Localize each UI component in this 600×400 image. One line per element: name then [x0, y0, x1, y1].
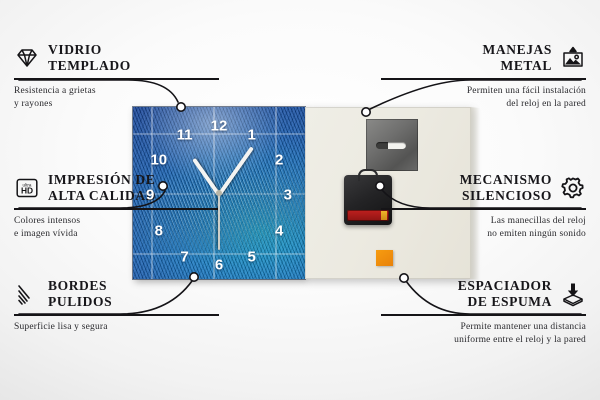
feature-title-line1: IMPRESIÓN DE	[48, 172, 155, 187]
feature-rule	[381, 208, 586, 210]
clock-numeral-2: 2	[275, 153, 283, 168]
feature-mecanismo-silencioso: MECANISMO SILENCIOSO Las manecillas del …	[381, 172, 586, 240]
feature-title-line2: METAL	[500, 58, 552, 73]
clock-numeral-3: 3	[284, 187, 292, 202]
feature-rule	[381, 314, 586, 316]
feature-title-line2: DE ESPUMA	[467, 294, 552, 309]
feature-title-line2: PULIDOS	[48, 294, 112, 309]
feature-rule	[14, 78, 219, 80]
feature-bordes-pulidos: BORDES PULIDOS Superficie lisa y segura	[14, 278, 219, 334]
feature-title-line1: VIDRIO	[48, 42, 102, 57]
ultra-hd-icon: ultra HD	[14, 175, 40, 201]
clock-center-hub	[216, 190, 222, 196]
infographic-canvas: 12 1 2 3 4 5 6 7 8 9 10 11	[0, 0, 600, 400]
foam-spacer	[376, 250, 393, 266]
feature-desc-line2: e imagen vívida	[14, 229, 78, 239]
clock-numeral-11: 11	[177, 127, 193, 142]
feature-title-line1: MECANISMO	[460, 172, 552, 187]
feature-rule	[14, 208, 219, 210]
movement-hook	[358, 169, 378, 181]
clock-numeral-9: 9	[146, 187, 154, 202]
feature-desc-line1: Superficie lisa y segura	[14, 322, 108, 332]
hanger-slot	[376, 142, 406, 149]
clock-numeral-7: 7	[180, 249, 188, 264]
feature-desc-line2: del reloj en la pared	[506, 99, 586, 109]
feature-desc-line2: uniforme entre el reloj y la pared	[454, 335, 586, 345]
feature-title-line2: TEMPLADO	[48, 58, 131, 73]
diamond-icon	[14, 45, 40, 71]
feature-title-line2: SILENCIOSO	[462, 188, 552, 203]
feature-title-line1: MANEJAS	[483, 42, 552, 57]
clock-minute-hand	[217, 146, 254, 196]
picture-frame-hanging-icon	[560, 45, 586, 71]
gear-icon	[560, 175, 586, 201]
feature-desc-line2: no emiten ningún sonido	[487, 229, 586, 239]
clock-numeral-8: 8	[155, 223, 163, 238]
feature-rule	[14, 314, 219, 316]
arrow-down-pad-icon	[560, 281, 586, 307]
feature-vidrio-templado: VIDRIO TEMPLADO Resistencia a grietas y …	[14, 42, 219, 110]
clock-numeral-5: 5	[248, 249, 256, 264]
feature-title-line1: ESPACIADOR	[458, 278, 552, 293]
feature-title-line2: ALTA CALIDAD	[48, 188, 156, 203]
svg-text:HD: HD	[21, 186, 33, 196]
feature-impresion-alta-calidad: ultra HD IMPRESIÓN DE ALTA CALIDAD Color…	[14, 172, 219, 240]
clock-numeral-10: 10	[150, 153, 167, 168]
clock-numeral-6: 6	[215, 258, 223, 273]
feature-manejas-metal: MANEJAS METAL Permiten una fácil instala…	[381, 42, 586, 110]
feature-desc-line1: Permite mantener una distancia	[461, 322, 587, 332]
feature-title-line1: BORDES	[48, 278, 107, 293]
clock-numeral-1: 1	[248, 127, 256, 142]
feature-desc-line1: Las manecillas del reloj	[491, 216, 586, 226]
metal-hanger	[366, 119, 418, 171]
feature-desc-line1: Permiten una fácil instalación	[467, 86, 586, 96]
feature-espaciador-de-espuma: ESPACIADOR DE ESPUMA Permite mantener un…	[381, 278, 586, 346]
polished-edges-icon	[14, 281, 40, 307]
clock-numeral-4: 4	[275, 223, 283, 238]
feature-desc-line1: Resistencia a grietas	[14, 86, 96, 96]
feature-desc-line1: Colores intensos	[14, 216, 80, 226]
clock-second-hand	[218, 194, 220, 250]
feature-desc-line2: y rayones	[14, 99, 52, 109]
feature-rule	[381, 78, 586, 80]
clock-numeral-12: 12	[211, 118, 228, 133]
